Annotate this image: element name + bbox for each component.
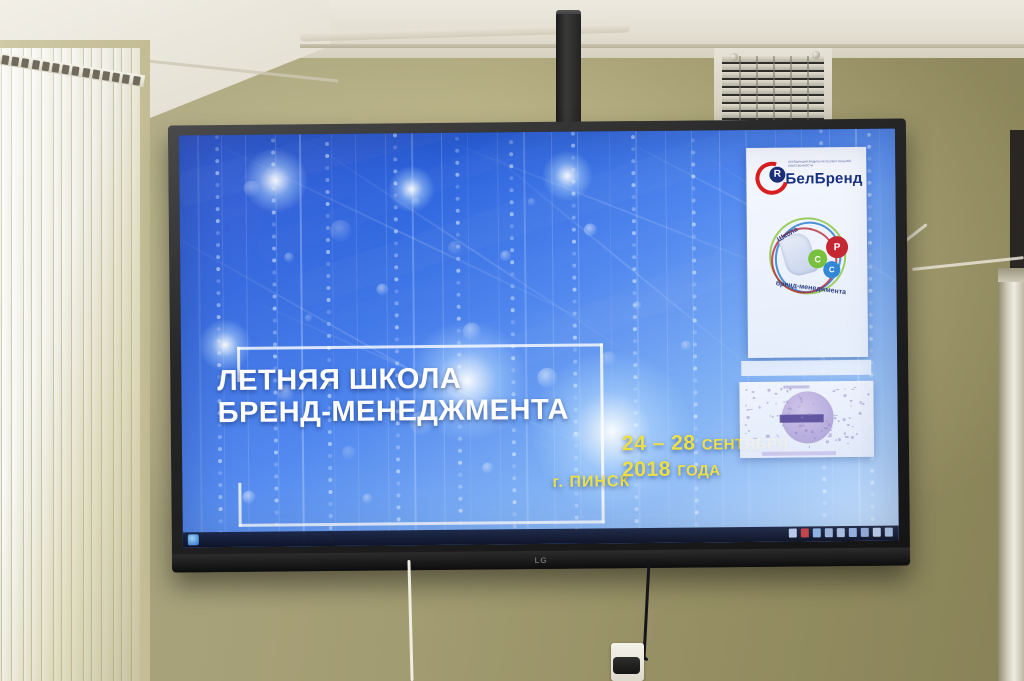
slide-bokeh-dot — [342, 446, 356, 460]
slide-bead — [632, 219, 636, 223]
slide-bead — [632, 255, 636, 259]
slide-bokeh-dot — [448, 241, 462, 255]
slide-bokeh-dot — [633, 301, 642, 310]
notification-icon[interactable] — [801, 528, 809, 537]
slide-bead — [274, 451, 278, 455]
slide-bead — [572, 228, 576, 232]
slide-bead — [693, 390, 697, 394]
slide-bead — [867, 157, 871, 161]
map-speck — [851, 405, 852, 407]
map-speck — [782, 424, 784, 426]
slide-bead — [695, 510, 699, 514]
map-speck — [800, 397, 802, 399]
slide-bead — [870, 457, 874, 461]
slide-bead — [510, 224, 514, 228]
slide-title-line1: ЛЕТНЯЯ ШКОЛА — [217, 361, 647, 398]
slide-bead — [272, 235, 276, 239]
map-speck — [856, 433, 858, 435]
slide-bead — [692, 222, 696, 226]
vent-screw-left — [730, 53, 738, 61]
map-speck — [789, 388, 791, 390]
map-speck — [798, 406, 800, 407]
slide-bead — [458, 497, 462, 501]
map-speck — [748, 430, 751, 432]
map-speck — [766, 402, 768, 404]
slide-bead — [572, 204, 576, 208]
slide-bead — [632, 195, 636, 199]
map-speck — [847, 443, 849, 445]
slide-bead — [325, 142, 329, 146]
slide-bead — [692, 282, 696, 286]
slide-bead — [328, 466, 332, 470]
map-speck — [749, 409, 752, 411]
slide-bead — [396, 469, 400, 473]
blind-track-clip — [82, 68, 90, 78]
map-speck — [826, 420, 828, 422]
slide-glow — [243, 148, 308, 213]
blind-track-clip — [52, 63, 60, 73]
slide-bead — [868, 217, 872, 221]
slide-bead — [216, 279, 220, 283]
tv-display[interactable]: ЛЕТНЯЯ ШКОЛА БРЕНД-МЕНЕДЖМЕНТА г. ПИНСК … — [168, 118, 910, 572]
slide-bead — [215, 171, 219, 175]
slide-bead — [511, 320, 515, 324]
slide-bead — [394, 241, 398, 245]
blind-track-clip — [31, 60, 39, 70]
map-speck — [843, 419, 846, 422]
slide-bead — [394, 265, 398, 269]
slide-bead — [632, 231, 636, 235]
slide-bead — [326, 238, 330, 242]
slide-bead — [455, 137, 459, 141]
slide-bead — [511, 308, 515, 312]
slide-bead — [216, 291, 220, 295]
slide-bead — [326, 214, 330, 218]
map-speck — [801, 422, 803, 424]
tv-screen[interactable]: ЛЕТНЯЯ ШКОЛА БРЕНД-МЕНЕДЖМЕНТА г. ПИНСК … — [179, 129, 899, 548]
slide-bead — [272, 223, 276, 227]
slide-bead — [631, 147, 635, 151]
slide-bead — [275, 511, 279, 515]
slide-bokeh-dot — [500, 250, 511, 261]
slide-bead — [395, 337, 399, 341]
slide-bead — [631, 171, 635, 175]
dates-range: 24 – 28 — [622, 432, 696, 456]
slide-bead — [218, 435, 222, 439]
map-speck — [830, 429, 831, 432]
slide-bead — [691, 138, 695, 142]
blind-track-clip — [62, 65, 70, 75]
map-speck — [752, 391, 754, 393]
slide-bead — [326, 202, 330, 206]
map-speck — [745, 424, 746, 426]
slide-bead — [513, 512, 517, 516]
slide-bead — [510, 212, 514, 216]
slide-bead — [396, 445, 400, 449]
slide-bead — [510, 248, 514, 252]
map-speck — [861, 403, 864, 405]
slide-bead — [512, 488, 516, 492]
slide-bead — [272, 247, 276, 251]
slide-bead — [393, 157, 397, 161]
slide-bead — [396, 493, 400, 497]
slide-bead — [328, 478, 332, 482]
poster-lower-panel — [739, 381, 874, 458]
slide-bead — [329, 526, 333, 530]
slide-bead — [693, 330, 697, 334]
slide-bead — [631, 159, 635, 163]
slide-bead — [396, 457, 400, 461]
slide-bead — [633, 327, 637, 331]
slide-bead — [218, 495, 222, 499]
display-icon[interactable] — [873, 528, 881, 537]
slide-bead — [273, 331, 277, 335]
slide-bead — [395, 349, 399, 353]
door-frame — [998, 282, 1024, 681]
map-speck — [753, 438, 754, 440]
slide-bead — [394, 253, 398, 257]
slide-bead — [458, 461, 462, 465]
slide-bead — [329, 514, 333, 518]
slide-bead — [326, 274, 330, 278]
slide-bead — [456, 197, 460, 201]
map-speck — [771, 416, 773, 418]
slide-bead — [823, 513, 827, 517]
belbrand-logo: R АССОЦИАЦИЯ ЗАЩИТЫ ИНТЕЛЛЕКТУАЛЬНОЙ СОБ… — [755, 159, 859, 194]
slide-bead — [459, 509, 463, 513]
map-speck — [847, 424, 850, 427]
slide-bead — [823, 501, 827, 505]
slide-bead — [215, 159, 219, 163]
poster-strip — [741, 360, 871, 376]
slide-bead — [870, 493, 874, 497]
slide-bead — [328, 502, 332, 506]
slide-bokeh-dot — [284, 252, 294, 262]
slide-bead — [869, 313, 873, 317]
slide-bead — [572, 288, 576, 292]
slide-bead — [694, 498, 698, 502]
outlet-plug — [613, 657, 640, 674]
school-emblem: C P C Школа бренд-менеджмента — [761, 209, 855, 303]
start-orb-icon[interactable] — [188, 534, 199, 545]
map-speck — [849, 400, 852, 401]
slide-bead — [328, 442, 332, 446]
slide-bead — [457, 305, 461, 309]
slide-bead — [272, 283, 276, 287]
slide-bead — [867, 145, 871, 149]
blind-track-clip — [1, 55, 9, 65]
slide-bead — [868, 205, 872, 209]
slide-bead — [822, 477, 826, 481]
map-speck — [809, 446, 811, 449]
slide-bead — [274, 439, 278, 443]
map-speck — [831, 427, 833, 428]
slide-bead — [326, 286, 330, 290]
slide-bead — [693, 378, 697, 382]
slide-bead — [395, 301, 399, 305]
blind-track-clip — [112, 73, 120, 83]
volume-icon[interactable] — [885, 528, 893, 537]
slide-bead — [397, 505, 401, 509]
system-tray[interactable] — [789, 528, 893, 538]
slide-bead — [216, 243, 220, 247]
slide-bead — [219, 519, 223, 523]
app-icon-3[interactable] — [849, 528, 857, 537]
slide-bead — [218, 471, 222, 475]
map-speck — [838, 420, 840, 422]
slide-bead — [692, 198, 696, 202]
slide-bead — [573, 324, 577, 328]
slide-bokeh-dot — [681, 341, 691, 351]
slide-bead — [218, 459, 222, 463]
map-speck — [808, 414, 812, 415]
slide-bead — [274, 463, 278, 467]
slide-bead — [395, 313, 399, 317]
slide-bead — [693, 366, 697, 370]
app-icon-4[interactable] — [861, 528, 869, 537]
slide-bead — [633, 315, 637, 319]
blind-track-clip — [11, 57, 19, 67]
room-scene: ЛЕТНЯЯ ШКОЛА БРЕНД-МЕНЕДЖМЕНТА г. ПИНСК … — [0, 0, 1024, 681]
slide-bead — [456, 293, 460, 297]
slide-bead — [635, 519, 639, 523]
slide-bead — [215, 147, 219, 151]
slide-bead — [455, 185, 459, 189]
map-speck — [851, 388, 854, 390]
emblem-gear-blue-icon: C — [823, 261, 840, 278]
slide-bead — [394, 277, 398, 281]
map-speck — [758, 406, 760, 409]
slide-bead — [456, 209, 460, 213]
slide-bead — [395, 325, 399, 329]
slide-bokeh-dot — [482, 462, 493, 473]
slide-bead — [632, 279, 636, 283]
slide-bead — [869, 301, 873, 305]
app-icon-2[interactable] — [837, 528, 845, 537]
map-speck — [828, 424, 831, 427]
blind-track-clip — [41, 61, 49, 71]
slide-bead — [219, 507, 223, 511]
slide-bead — [693, 294, 697, 298]
map-speck — [780, 388, 782, 391]
blind-track-clip — [72, 66, 80, 76]
map-speck — [770, 415, 771, 417]
slide-bead — [632, 207, 636, 211]
network-icon[interactable] — [813, 528, 821, 537]
slide-dates-line2: 2018 ГОДА — [622, 455, 789, 482]
slide-bead — [215, 183, 219, 187]
slide-bead — [868, 289, 872, 293]
slide-bead — [575, 516, 579, 520]
ceiling-wall-joint — [300, 44, 1024, 48]
map-speck — [746, 409, 748, 411]
map-speck — [752, 397, 755, 398]
slide-bead — [512, 452, 516, 456]
map-speck — [834, 439, 836, 441]
slide-bead — [218, 447, 222, 451]
slide-bead — [456, 269, 460, 273]
slide-glow — [199, 319, 251, 371]
slide-bead — [215, 135, 219, 139]
slide-bead — [691, 162, 695, 166]
frame-left-bar-lower — [238, 483, 241, 527]
slide-bead — [216, 219, 220, 223]
blind-track-clip — [132, 76, 140, 86]
slide-bead — [631, 135, 635, 139]
map-speck — [812, 403, 814, 405]
slide-bead — [510, 260, 514, 264]
slide-bead — [868, 229, 872, 233]
slide-bead — [509, 152, 513, 156]
slide-bead — [868, 253, 872, 257]
slide-bead — [510, 200, 514, 204]
monitor-icon[interactable] — [789, 529, 797, 538]
slide-bead — [325, 166, 329, 170]
slide-bead — [573, 348, 577, 352]
slide-bead — [325, 190, 329, 194]
slide-bead — [394, 289, 398, 293]
slide-bead — [217, 303, 221, 307]
slide-bead — [571, 132, 575, 136]
blind-track-clip — [92, 69, 100, 79]
slide-bead — [273, 319, 277, 323]
slide-bead — [509, 140, 513, 144]
wall-corner-shadow — [1010, 130, 1024, 290]
slide-bead — [455, 149, 459, 153]
slide-bead — [325, 178, 329, 182]
slide-bokeh-dot — [305, 314, 313, 322]
slide-title-block: ЛЕТНЯЯ ШКОЛА БРЕНД-МЕНЕДЖМЕНТА г. ПИНСК — [217, 361, 648, 430]
map-speck — [767, 389, 771, 392]
slide-bead — [458, 473, 462, 477]
slide-bead — [691, 150, 695, 154]
slide-bokeh-dot — [330, 220, 352, 242]
slide-bead — [693, 342, 697, 346]
slide-bead — [631, 183, 635, 187]
slide-bead — [819, 129, 823, 133]
slide-bead — [572, 240, 576, 244]
slide-bead — [274, 475, 278, 479]
slide-bead — [867, 181, 871, 185]
slide-bead — [511, 332, 515, 336]
app-icon-1[interactable] — [825, 528, 833, 537]
slide-glow — [542, 150, 592, 200]
map-speck — [747, 416, 750, 419]
slide-bead — [393, 133, 397, 137]
slide-bead — [455, 173, 459, 177]
brand-name: БелБренд — [785, 170, 862, 188]
tv-brand-logo: LG — [534, 556, 547, 565]
slide-bead — [216, 231, 220, 235]
map-speck — [791, 409, 792, 410]
slide-bead — [510, 236, 514, 240]
slide-bead — [396, 481, 400, 485]
map-speck — [786, 401, 789, 402]
dates-year-word: ГОДА — [677, 462, 720, 479]
slide-bead — [327, 358, 331, 362]
slide-bead — [218, 483, 222, 487]
map-speck — [782, 414, 785, 415]
slide-city: г. ПИНСК — [552, 473, 630, 492]
slide-bead — [869, 325, 873, 329]
map-speck — [844, 388, 845, 390]
map-speck — [832, 391, 836, 392]
slide-bead — [572, 276, 576, 280]
slide-bead — [513, 524, 517, 528]
slide-bead — [272, 259, 276, 263]
map-speck — [833, 417, 836, 419]
poster-panel: R АССОЦИАЦИЯ ЗАЩИТЫ ИНТЕЛЛЕКТУАЛЬНОЙ СОБ… — [746, 147, 868, 358]
slide-bead — [822, 489, 826, 493]
slide-bead — [695, 522, 699, 526]
blinds-tint — [0, 48, 140, 681]
slide-bokeh-dot — [528, 198, 536, 206]
slide-bead — [512, 464, 516, 468]
slide-bead — [393, 145, 397, 149]
slide-bead — [694, 414, 698, 418]
map-speck — [849, 417, 850, 419]
map-speck — [852, 426, 854, 427]
map-speck — [867, 393, 870, 396]
blind-track-clip — [122, 74, 130, 84]
map-speck — [843, 394, 846, 397]
map-speck — [859, 412, 862, 415]
slide-bead — [692, 270, 696, 274]
slide-bead — [273, 355, 277, 359]
map-speck — [844, 432, 847, 435]
slide-bokeh-dot — [376, 283, 388, 295]
slide-bead — [274, 499, 278, 503]
slide-bead — [822, 465, 826, 469]
slide-bead — [870, 469, 874, 473]
map-speck — [836, 389, 840, 390]
map-speck — [838, 438, 841, 441]
map-speck — [775, 403, 777, 404]
map-speck — [787, 390, 788, 392]
slide-bead — [456, 281, 460, 285]
slide-bead — [456, 221, 460, 225]
slide-bead — [694, 402, 698, 406]
slide-bead — [573, 300, 577, 304]
slide-bead — [458, 485, 462, 489]
slide-bead — [272, 271, 276, 275]
slide-bokeh-dot — [584, 223, 597, 236]
slide-bead — [274, 487, 278, 491]
logo-r-icon: R — [769, 167, 785, 183]
slide-glow — [388, 166, 434, 212]
slide-bead — [572, 252, 576, 256]
slide-bead — [633, 339, 637, 343]
slide-bead — [632, 243, 636, 247]
slide-bead — [394, 217, 398, 221]
map-speck — [746, 389, 748, 391]
slide-bead — [458, 449, 462, 453]
slide-bead — [572, 264, 576, 268]
slide-bead — [868, 241, 872, 245]
slide-bead — [509, 188, 513, 192]
slide-bead — [396, 433, 400, 437]
slide-bead — [693, 354, 697, 358]
slide-bead — [868, 277, 872, 281]
poster-footer-bar — [762, 451, 836, 456]
slide-bead — [632, 291, 636, 295]
vent-screw-right — [812, 51, 820, 59]
slide-bead — [328, 490, 332, 494]
map-speck — [851, 436, 854, 439]
map-speck — [755, 438, 758, 439]
slide-bead — [871, 505, 875, 509]
slide-bead — [512, 440, 516, 444]
